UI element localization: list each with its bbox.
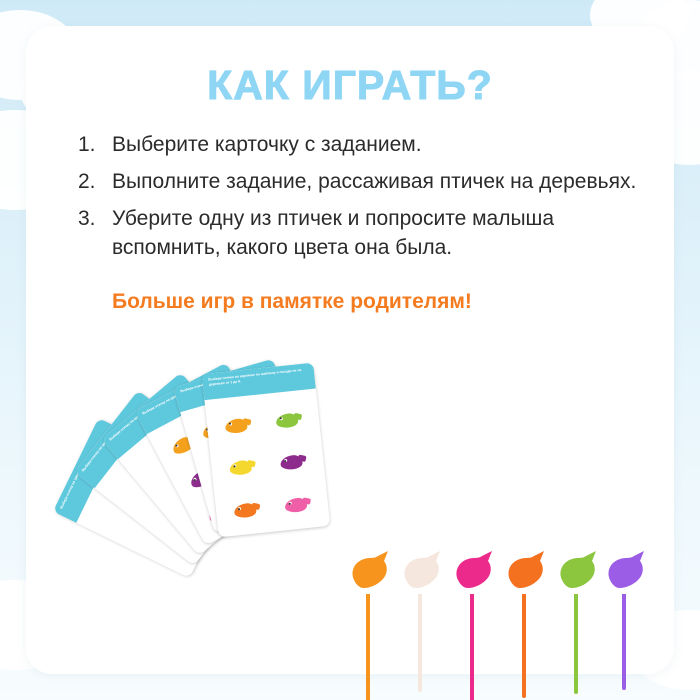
page-title: КАК ИГРАТЬ? [26, 62, 674, 109]
bird-pick-head [398, 550, 444, 606]
bird-icon [224, 415, 252, 435]
bird-pick-stick [522, 594, 526, 698]
list-item-text: Уберите одну из птичек и попросите малыш… [112, 204, 638, 262]
bird-pick-head [346, 550, 392, 606]
instruction-list: 1. Выберите карточку с заданием. 2. Выпо… [78, 130, 638, 270]
bird-silhouette-icon [398, 550, 444, 594]
list-item: 3. Уберите одну из птичек и попросите ма… [78, 204, 638, 262]
bird-pick [502, 550, 548, 606]
promo-page: КАК ИГРАТЬ? 1. Выберите карточку с задан… [0, 0, 700, 700]
bird-pick-head [450, 550, 496, 606]
list-item-number: 1. [78, 130, 112, 159]
bird-pick-stick [470, 594, 474, 700]
bird-pick [554, 550, 600, 606]
bird-icon [284, 495, 312, 515]
bird-pick-stick [366, 594, 370, 700]
bird-silhouette-icon [602, 550, 648, 594]
footnote-text: Больше игр в памятке родителям! [112, 290, 472, 314]
list-item: 1. Выберите карточку с заданием. [78, 130, 638, 159]
list-item-number: 2. [78, 167, 112, 196]
task-card-bird-grid [205, 392, 330, 537]
bird-silhouette-icon [554, 550, 600, 594]
task-cards-fan: Выбери птичку по цвету Выбери птичку по … [92, 366, 352, 596]
bird-picks-group [346, 406, 646, 606]
list-item-text: Выберите карточку с заданием. [112, 130, 422, 159]
bird-pick-head [502, 550, 548, 606]
list-item: 2. Выполните задание, рассаживая птичек … [78, 167, 638, 196]
bird-icon [275, 410, 303, 430]
bird-pick-head [554, 550, 600, 606]
bird-pick-stick [574, 594, 578, 694]
list-item-number: 3. [78, 204, 112, 233]
task-card: Выбери птичек по картинке по шаблону и п… [202, 363, 331, 538]
bird-pick [346, 550, 392, 606]
bird-icon [279, 452, 307, 472]
bird-icon [233, 500, 261, 520]
bird-pick-stick [622, 594, 626, 690]
list-item-text: Выполните задание, рассаживая птичек на … [112, 167, 636, 196]
bird-icon [228, 458, 256, 478]
bird-pick-head [602, 550, 648, 606]
bird-silhouette-icon [502, 550, 548, 594]
bird-pick-stick [418, 594, 422, 692]
bird-silhouette-icon [450, 550, 496, 594]
bird-pick [450, 550, 496, 606]
bird-silhouette-icon [346, 550, 392, 594]
bird-pick [602, 550, 648, 606]
bird-pick [398, 550, 444, 606]
content-card: КАК ИГРАТЬ? 1. Выберите карточку с задан… [26, 26, 674, 674]
